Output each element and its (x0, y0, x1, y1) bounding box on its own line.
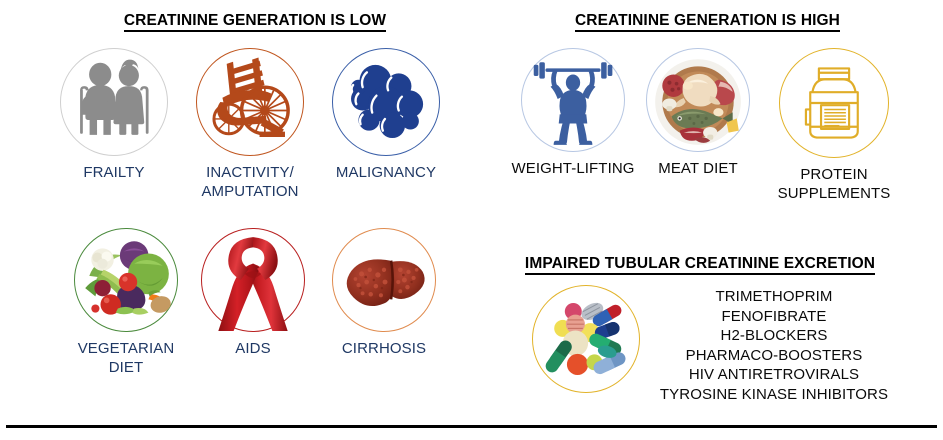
drug-item-0: TRIMETHOPRIM (636, 287, 912, 307)
heading-impaired-text: IMPAIRED TUBULAR CREATININE EXCRETION (525, 255, 875, 275)
drug-list: TRIMETHOPRIM FENOFIBRATE H2-BLOCKERS PHA… (636, 287, 912, 404)
drug-item-5: TYROSINE KINASE INHIBITORS (636, 385, 912, 405)
wheelchair-icon (197, 49, 303, 155)
meat-diet-badge (646, 48, 750, 152)
item-vegetarian-diet[interactable]: VEGETARIAN DIET (60, 228, 192, 377)
item-label-weight-lifting: WEIGHT-LIFTING (508, 159, 638, 178)
heading-creatinine-low: CREATININE GENERATION IS LOW (60, 12, 450, 30)
item-label-protein-supplements: PROTEIN SUPPLEMENTS (768, 165, 900, 203)
item-cirrhosis[interactable]: CIRRHOSIS (318, 228, 450, 358)
tumor-cells-icon (333, 49, 439, 155)
item-label-malignancy: MALIGNANCY (320, 163, 452, 182)
drug-item-4: HIV ANTIRETROVIRALS (636, 365, 912, 385)
heading-high-text: CREATININE GENERATION IS HIGH (575, 12, 840, 32)
item-frailty[interactable]: FRAILTY (48, 48, 180, 182)
weight-lifting-badge (521, 48, 625, 152)
cirrhosis-badge (332, 228, 436, 332)
heading-low-text: CREATININE GENERATION IS LOW (124, 12, 386, 32)
item-label-cirrhosis: CIRRHOSIS (318, 339, 450, 358)
heading-impaired-excretion: IMPAIRED TUBULAR CREATININE EXCRETION (505, 255, 895, 273)
item-inactivity-amputation[interactable]: INACTIVITY/ AMPUTATION (184, 48, 316, 201)
vegetarian-badge (74, 228, 178, 332)
item-label-inactivity: INACTIVITY/ AMPUTATION (184, 163, 316, 201)
vegetables-icon (75, 229, 177, 331)
pills-badge (532, 285, 640, 393)
item-label-meat-diet: MEAT DIET (640, 159, 756, 178)
drug-item-1: FENOFIBRATE (636, 307, 912, 327)
protein-supplements-badge (779, 48, 889, 158)
weightlifter-icon (522, 49, 624, 151)
bottom-divider (6, 425, 937, 428)
aids-badge (201, 228, 305, 332)
item-malignancy[interactable]: MALIGNANCY (320, 48, 452, 182)
malignancy-badge (332, 48, 440, 156)
pills-icon (533, 286, 639, 392)
item-protein-supplements[interactable]: PROTEIN SUPPLEMENTS (768, 48, 900, 203)
protein-tub-icon (780, 49, 888, 157)
item-meat-diet[interactable]: MEAT DIET (640, 48, 756, 178)
red-ribbon-icon (202, 229, 304, 331)
item-label-frailty: FRAILTY (48, 163, 180, 182)
item-label-aids: AIDS (190, 339, 316, 358)
item-weight-lifting[interactable]: WEIGHT-LIFTING (508, 48, 638, 178)
liver-icon (333, 229, 435, 331)
item-pills[interactable] (530, 285, 642, 393)
item-label-vegetarian-diet: VEGETARIAN DIET (60, 339, 192, 377)
inactivity-badge (196, 48, 304, 156)
drug-item-3: PHARMACO-BOOSTERS (636, 346, 912, 366)
frailty-badge (60, 48, 168, 156)
meat-platter-icon (647, 49, 749, 151)
elderly-couple-icon (61, 49, 167, 155)
item-aids[interactable]: AIDS (190, 228, 316, 358)
heading-creatinine-high: CREATININE GENERATION IS HIGH (520, 12, 895, 30)
drug-item-2: H2-BLOCKERS (636, 326, 912, 346)
infographic-poster: CREATININE GENERATION IS LOW CREATININE … (0, 0, 943, 440)
